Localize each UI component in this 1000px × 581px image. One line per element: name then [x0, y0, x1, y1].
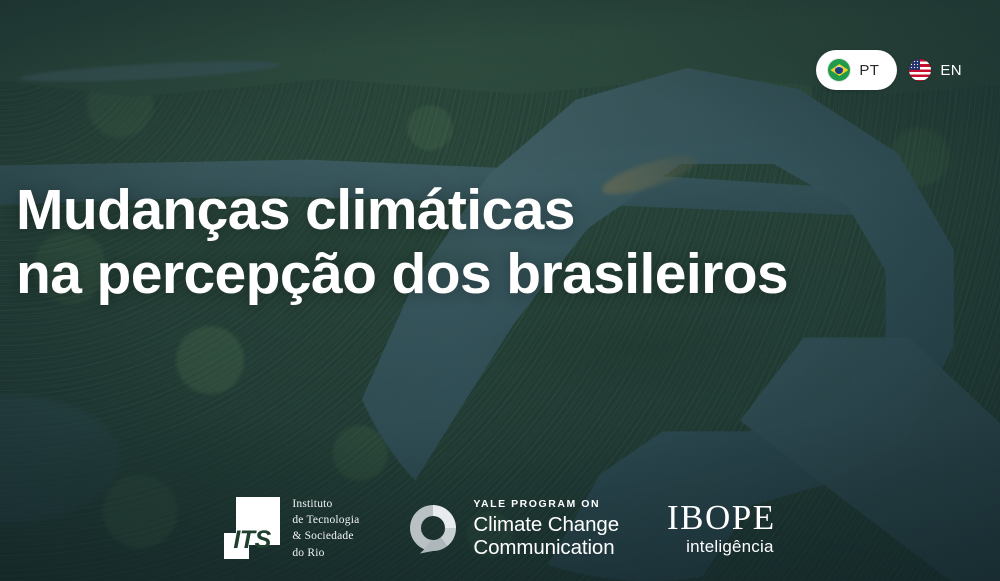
- hero-section: PT EN Mudanças climáticas na percepção d…: [0, 0, 1000, 581]
- language-option-en-label: EN: [940, 62, 962, 79]
- brazil-flag-icon: [828, 59, 850, 81]
- circular-swirl-icon: [407, 502, 459, 554]
- its-line-1: Instituto: [292, 496, 359, 512]
- its-line-4: do Rio: [292, 545, 359, 561]
- ibope-wordmark: IBOPE: [667, 500, 776, 535]
- language-option-en[interactable]: EN: [897, 50, 980, 90]
- language-option-pt[interactable]: PT: [816, 50, 897, 90]
- yale-name-line-2: Communication: [473, 536, 619, 559]
- its-line-3: & Sociedade: [292, 528, 359, 544]
- logo-ibope[interactable]: IBOPE inteligência: [667, 500, 776, 557]
- yale-wordmark-text: YALE PROGRAM ON Climate Change Communica…: [473, 498, 619, 559]
- page-title-line-1: Mudanças climáticas: [16, 178, 788, 242]
- partner-logo-bar: ITS Instituto de Tecnologia & Sociedade …: [0, 496, 1000, 561]
- language-switch[interactable]: PT EN: [816, 50, 980, 90]
- usa-flag-icon: [909, 59, 931, 81]
- logo-its[interactable]: ITS Instituto de Tecnologia & Sociedade …: [224, 496, 359, 561]
- language-option-pt-label: PT: [859, 62, 879, 79]
- its-wordmark-text: Instituto de Tecnologia & Sociedade do R…: [292, 496, 359, 561]
- its-mark-icon: ITS: [224, 497, 280, 559]
- yale-kicker: YALE PROGRAM ON: [473, 498, 619, 510]
- yale-name-line-1: Climate Change: [473, 513, 619, 536]
- its-mark-text: ITS: [233, 528, 270, 553]
- its-line-2: de Tecnologia: [292, 512, 359, 528]
- ibope-subtitle: inteligência: [667, 537, 776, 557]
- page-title: Mudanças climáticas na percepção dos bra…: [16, 178, 788, 307]
- page-title-line-2: na percepção dos brasileiros: [16, 242, 788, 306]
- logo-yale-program[interactable]: YALE PROGRAM ON Climate Change Communica…: [407, 498, 619, 559]
